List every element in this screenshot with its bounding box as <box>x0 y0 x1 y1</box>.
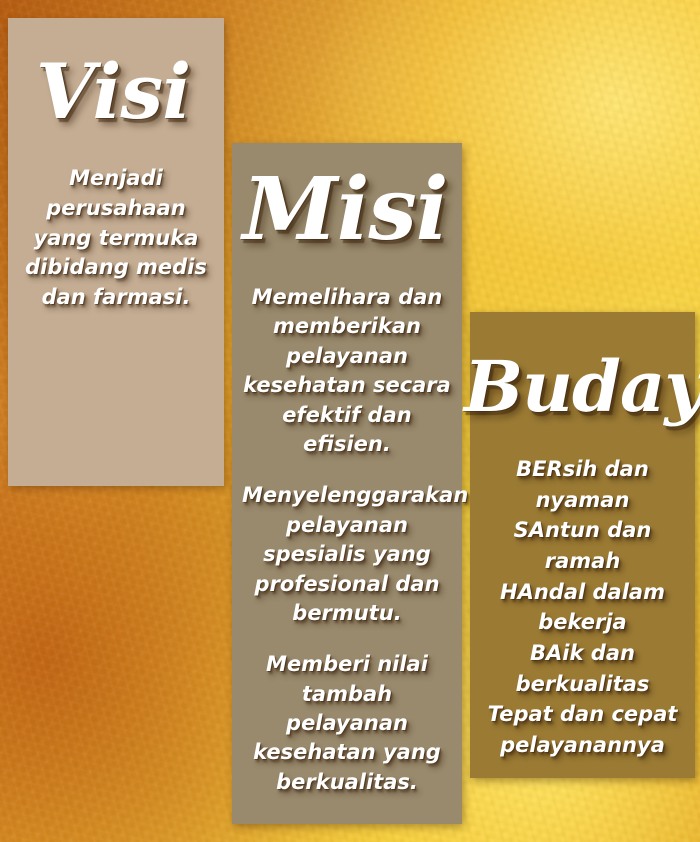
panel-misi: Misi Memelihara dan memberikan pelayanan… <box>232 143 462 824</box>
panel-budaya-heading: Budaya <box>464 352 695 422</box>
panel-budaya-line: BERsih dan nyaman <box>478 454 687 515</box>
panel-budaya-line: HAndal dalam bekerja <box>478 577 687 638</box>
panel-visi-heading: Visi <box>2 54 224 130</box>
panel-misi-paragraph: Memelihara dan memberikan pelayanan kese… <box>242 283 452 459</box>
panel-misi-body: Memelihara dan memberikan pelayanan kese… <box>242 283 452 797</box>
poster-canvas: Visi Menjadi perusahaan yang termuka dib… <box>0 0 700 842</box>
panel-budaya-body: BERsih dan nyaman SAntun dan ramah HAnda… <box>478 454 687 761</box>
panel-misi-paragraph: Menyelenggarakan pelayanan spesialis yan… <box>242 481 452 628</box>
panel-budaya-line: SAntun dan ramah <box>478 515 687 576</box>
panel-budaya: Budaya BERsih dan nyaman SAntun dan rama… <box>470 312 695 778</box>
panel-misi-paragraph: Memberi nilai tambah pelayanan kesehatan… <box>242 650 452 797</box>
panel-misi-heading: Misi <box>228 167 462 253</box>
panel-visi: Visi Menjadi perusahaan yang termuka dib… <box>8 18 224 486</box>
panel-budaya-line: Tepat dan cepat pelayanannya <box>478 699 687 760</box>
panel-visi-body: Menjadi perusahaan yang termuka dibidang… <box>22 164 210 313</box>
panel-budaya-line: BAik dan berkualitas <box>478 638 687 699</box>
